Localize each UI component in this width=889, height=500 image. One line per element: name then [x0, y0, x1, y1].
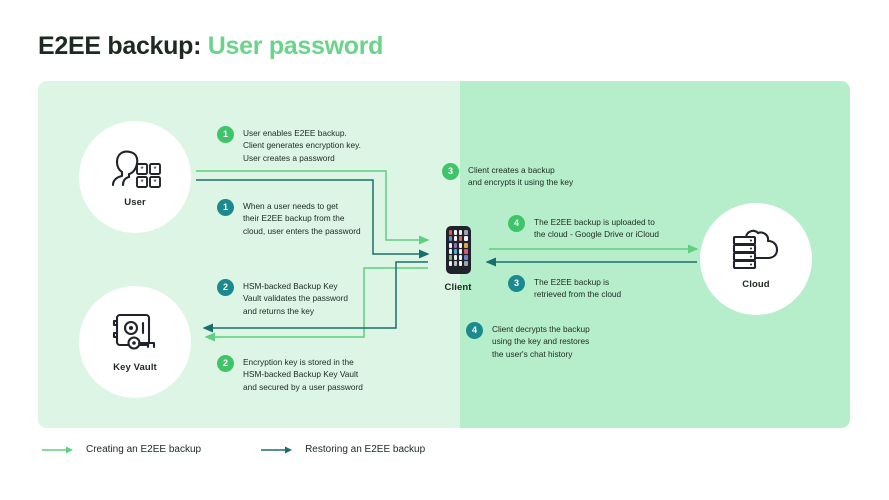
smartphone-icon	[446, 226, 471, 274]
step-restore-4: 4 Client decrypts the backup using the k…	[466, 322, 590, 360]
step-badge: 2	[217, 355, 234, 372]
step-restore-2: 2 HSM-backed Backup Key Vault validates …	[217, 279, 348, 317]
step-badge: 3	[442, 163, 459, 180]
step-create-2: 2 Encryption key is stored in the HSM-ba…	[217, 355, 363, 393]
legend-item-create: Creating an E2EE backup	[42, 444, 201, 455]
page-title-accent: User password	[208, 32, 383, 60]
svg-text:*: *	[140, 165, 143, 174]
legend-label: Restoring an E2EE backup	[305, 444, 425, 455]
node-client-label: Client	[445, 282, 472, 293]
node-user[interactable]: ** ** User	[79, 121, 191, 233]
node-client[interactable]: Client	[435, 226, 481, 293]
step-create-1: 1 User enables E2EE backup. Client gener…	[217, 126, 361, 164]
step-text: The E2EE backup is uploaded to the cloud…	[534, 215, 659, 241]
svg-text:*: *	[153, 178, 156, 187]
user-password-keypad-icon: ** **	[109, 146, 161, 190]
node-cloud[interactable]: Cloud	[700, 203, 812, 315]
step-text: The E2EE backup is retrieved from the cl…	[534, 275, 621, 301]
node-keyvault[interactable]: Key Vault	[79, 286, 191, 398]
page-title-main: E2EE backup:	[38, 32, 201, 60]
legend-label: Creating an E2EE backup	[86, 444, 201, 455]
svg-text:*: *	[153, 165, 156, 174]
step-badge: 3	[508, 275, 525, 292]
step-text: Encryption key is stored in the HSM-back…	[243, 355, 363, 393]
step-text: User enables E2EE backup. Client generat…	[243, 126, 361, 164]
step-badge: 4	[466, 322, 483, 339]
page-title: E2EE backup: User password	[38, 32, 383, 61]
arrow-right-green-icon	[42, 445, 74, 455]
step-restore-3: 3 The E2EE backup is retrieved from the …	[508, 275, 621, 301]
step-text: HSM-backed Backup Key Vault validates th…	[243, 279, 348, 317]
node-user-label: User	[124, 197, 146, 208]
node-cloud-label: Cloud	[742, 279, 769, 290]
step-text: Client creates a backup and encrypts it …	[468, 163, 573, 189]
legend-item-restore: Restoring an E2EE backup	[261, 444, 425, 455]
legend: Creating an E2EE backup Restoring an E2E…	[42, 444, 425, 455]
cloud-server-icon	[729, 228, 783, 272]
node-keyvault-label: Key Vault	[113, 362, 157, 373]
step-badge: 2	[217, 279, 234, 296]
step-restore-1: 1 When a user needs to get their E2EE ba…	[217, 199, 361, 237]
step-create-4: 4 The E2EE backup is uploaded to the clo…	[508, 215, 659, 241]
arrow-right-teal-icon	[261, 445, 293, 455]
step-create-3: 3 Client creates a backup and encrypts i…	[442, 163, 573, 189]
step-badge: 1	[217, 199, 234, 216]
vault-key-icon	[110, 311, 160, 355]
step-text: Client decrypts the backup using the key…	[492, 322, 590, 360]
step-badge: 4	[508, 215, 525, 232]
svg-text:*: *	[140, 178, 143, 187]
step-text: When a user needs to get their E2EE back…	[243, 199, 361, 237]
step-badge: 1	[217, 126, 234, 143]
